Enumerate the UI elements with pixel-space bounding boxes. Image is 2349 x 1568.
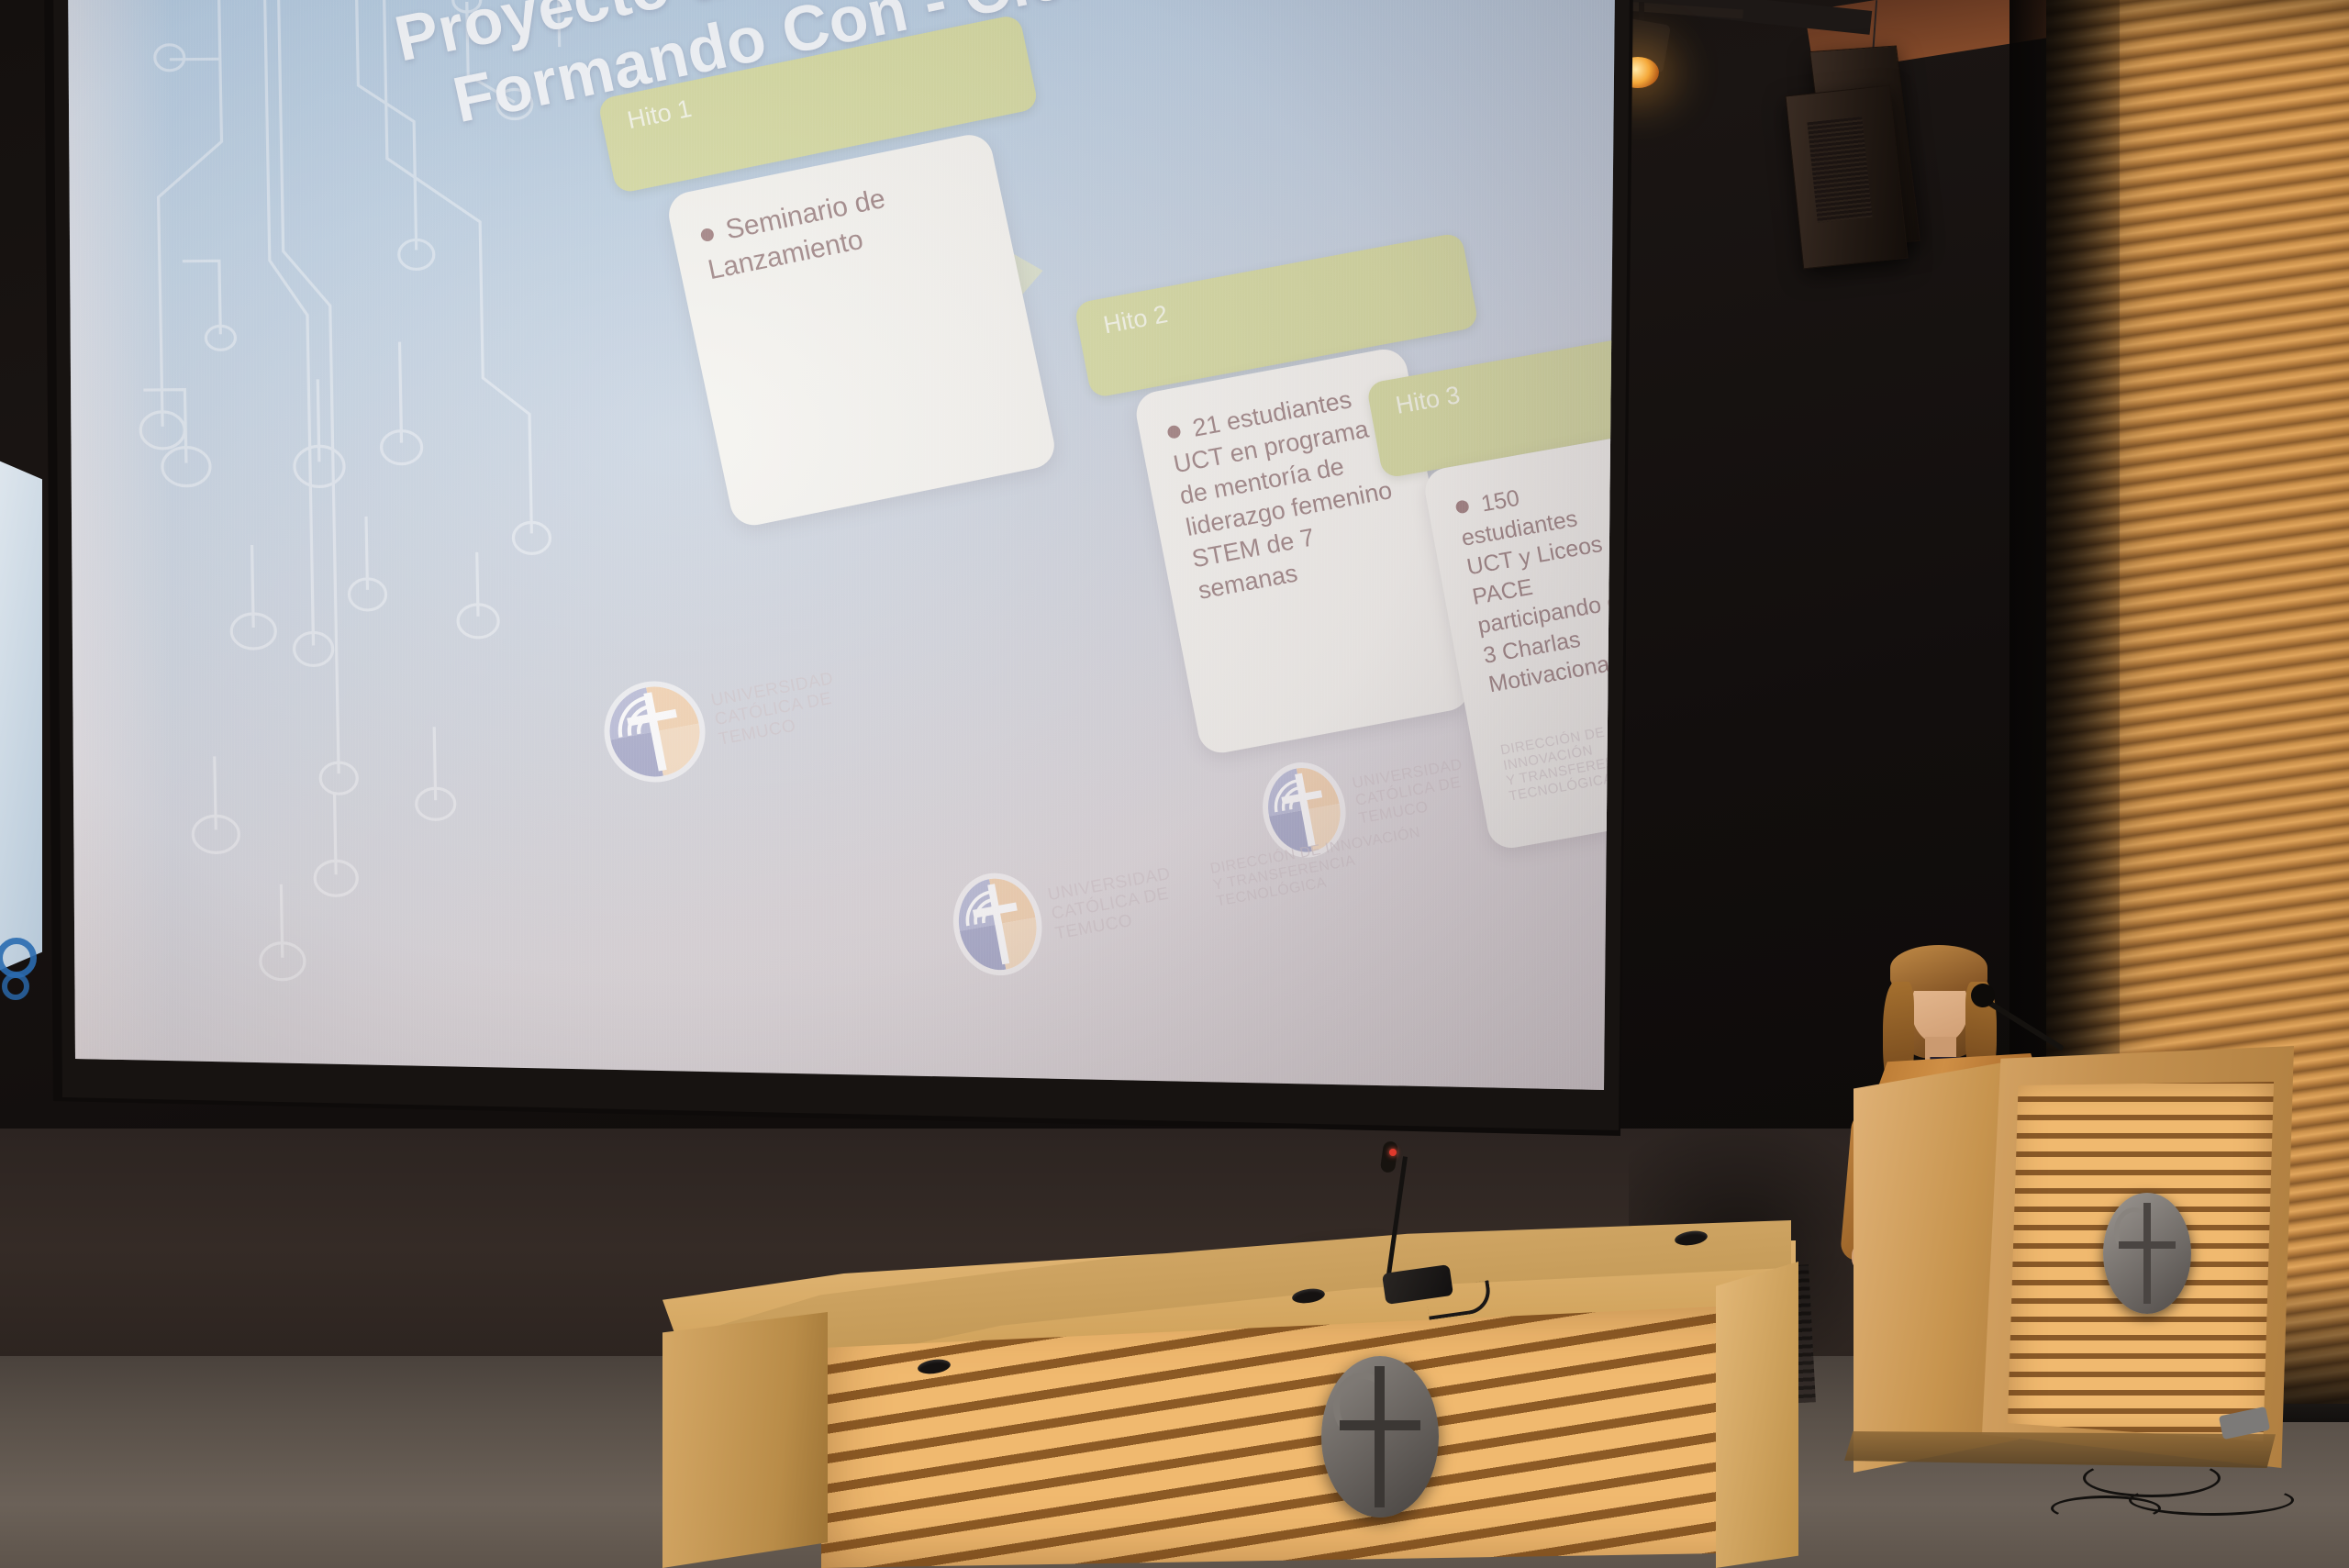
bullet-icon: [1166, 425, 1181, 439]
floor-cable: [2051, 1496, 2161, 1521]
milestone-2-body: 21 estudiantes UCT en programa de mentor…: [1171, 385, 1394, 605]
emblem-cross-vertical: [2143, 1203, 2151, 1305]
slide-logo-3-secondary-text: DIRECCIÓN DE INNOVACIÓN Y TRANSFERENCIA …: [1209, 825, 1429, 910]
auditorium-scene: 18° Proyecto de Vinculación Formando Con…: [0, 0, 2349, 1568]
uct-emblem-sculpture: [1321, 1356, 1439, 1518]
banner-ring-icon: [2, 973, 29, 1000]
uct-logo-icon: [952, 873, 1044, 976]
side-banner: [0, 459, 42, 973]
emblem-cross-horizontal: [1340, 1420, 1419, 1430]
milestone-1-card: Seminario de Lanzamiento: [664, 131, 1058, 529]
slide-logo-3: UNIVERSIDAD CATÓLICA DE TEMUCO DIRECCIÓN…: [952, 804, 1432, 976]
bullet-icon: [700, 228, 716, 243]
uct-logo-icon: [602, 679, 707, 784]
speaker-grille: [1807, 117, 1872, 223]
uct-emblem-sculpture: [2103, 1193, 2191, 1314]
panel-table-left-end: [662, 1312, 828, 1568]
projection-screen: 18° Proyecto de Vinculación Formando Con…: [44, 0, 1631, 1136]
microphone-status-led: [1389, 1149, 1397, 1156]
milestone-1-body: Seminario de Lanzamiento: [706, 183, 888, 285]
milestone-3-body: 150 estudiantes UCT y Liceos PACE partic…: [1459, 485, 1631, 698]
slide-logo-3-text: UNIVERSIDAD CATÓLICA DE TEMUCO: [1046, 864, 1179, 943]
panel-table-right-frame: [1716, 1262, 1798, 1568]
panel-table-slat-front: [821, 1303, 1798, 1568]
lectern-microphone-icon: [1971, 984, 1995, 1007]
circuit-board-pattern-icon: [81, 0, 670, 1032]
slide-logo-1-text: UNIVERSIDAD CATÓLICA DE TEMUCO: [709, 669, 842, 749]
emblem-cross-horizontal: [2119, 1241, 2175, 1249]
emblem-cross-vertical: [1375, 1366, 1385, 1508]
bullet-icon: [1455, 499, 1470, 514]
